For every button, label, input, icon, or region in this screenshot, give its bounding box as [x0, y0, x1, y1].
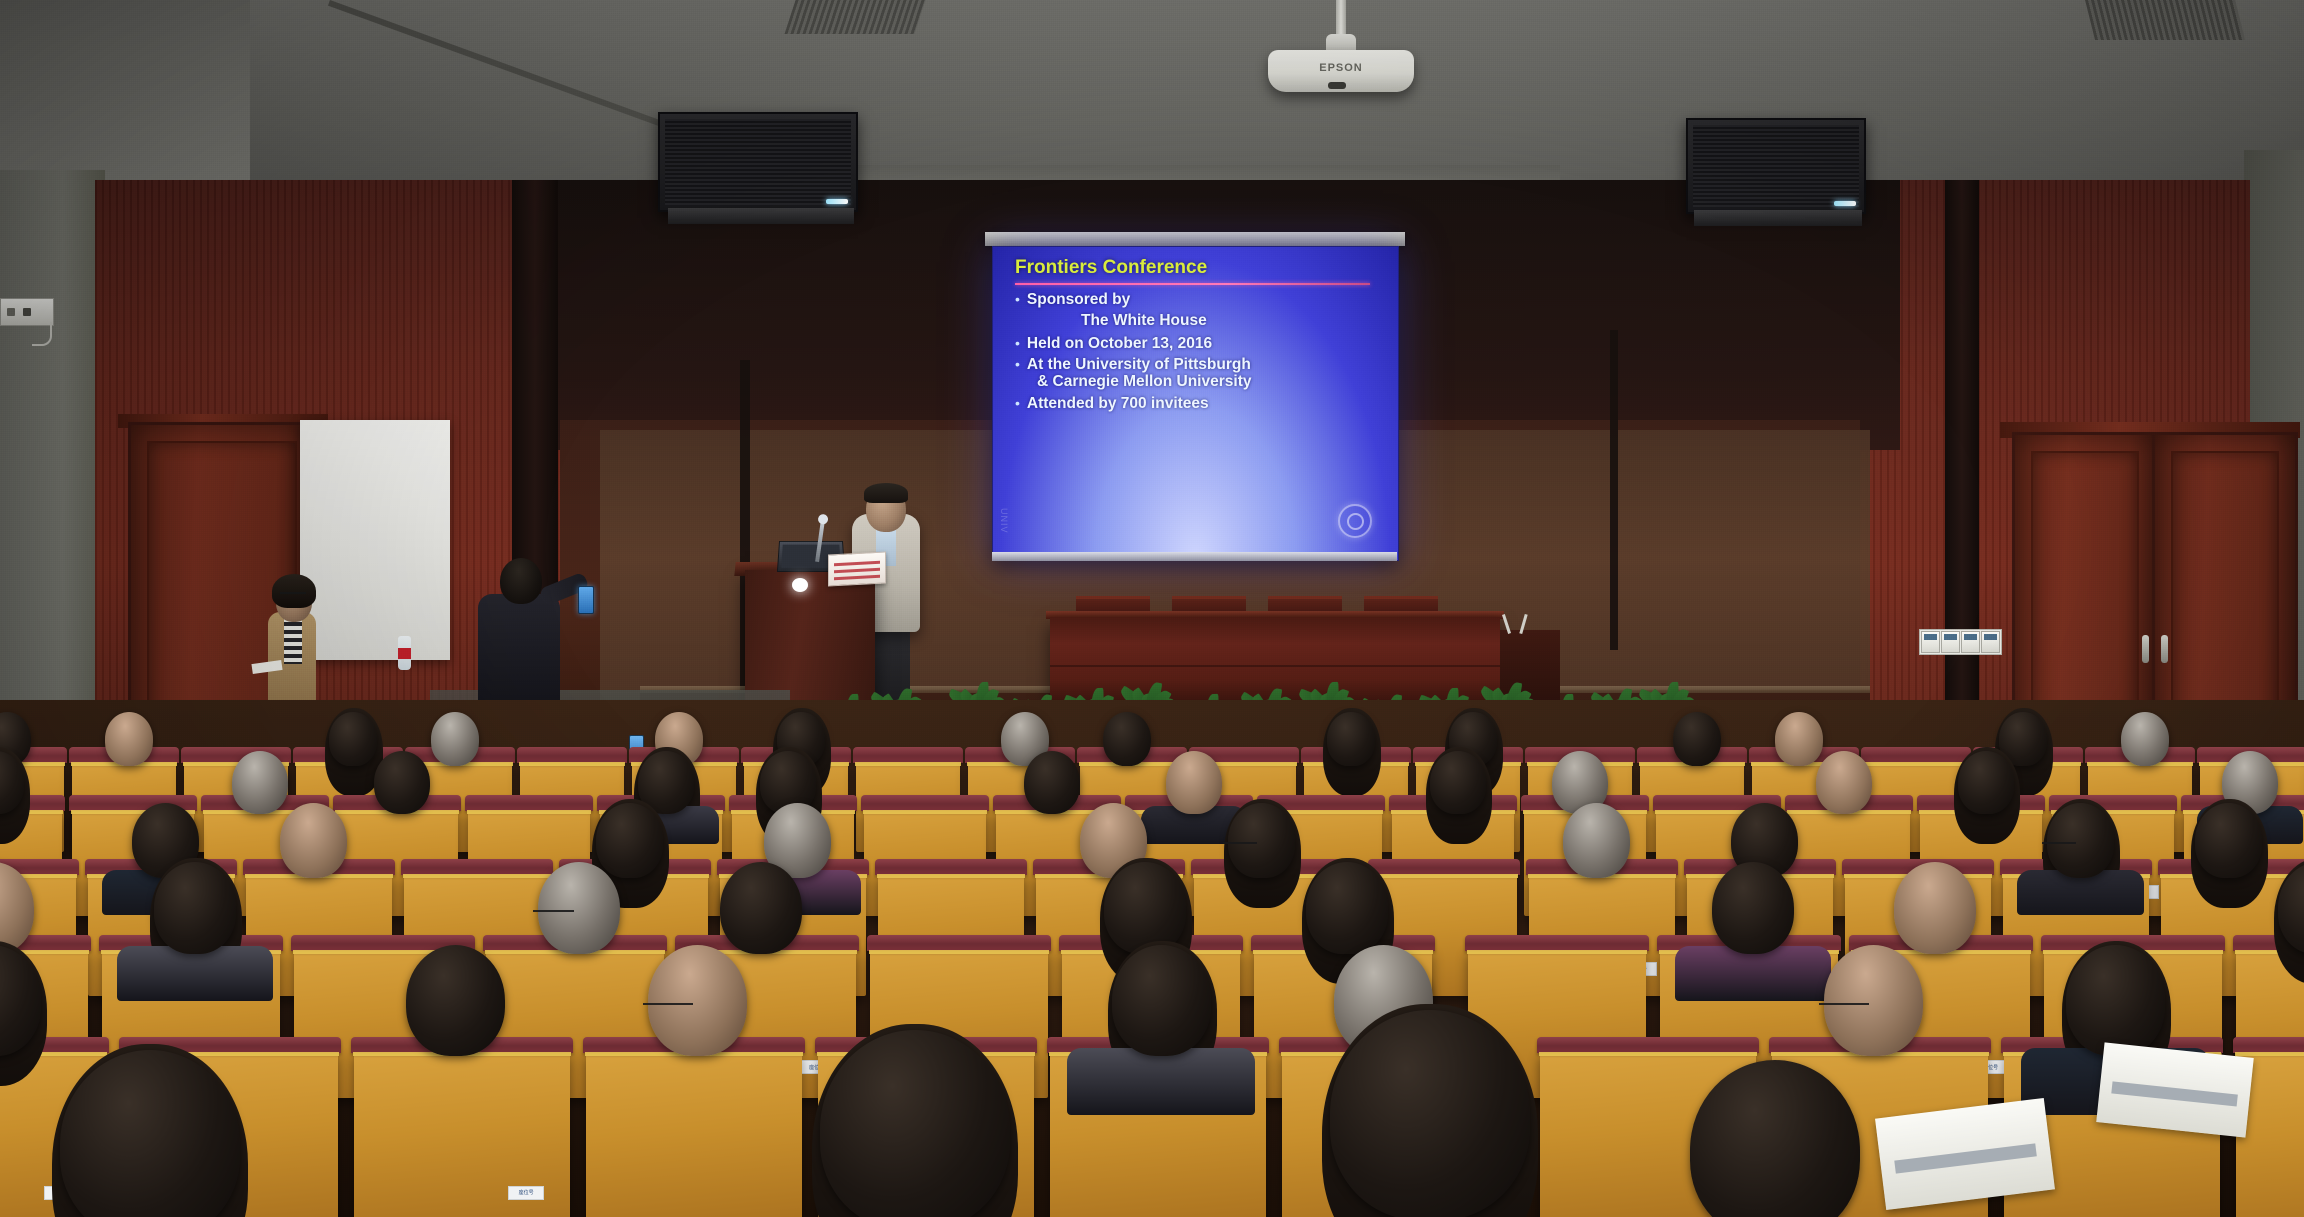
audience-member-head — [329, 712, 377, 766]
speaker-shelf-left — [668, 208, 854, 224]
audience-member-head — [2121, 712, 2169, 766]
seat-top-rail — [1368, 859, 1520, 875]
audience-member-head — [1894, 862, 1976, 954]
bullet-dot-icon: • — [1015, 357, 1020, 372]
right-door-handle-b[interactable] — [2161, 635, 2168, 663]
handout-figure — [1894, 1143, 2037, 1173]
speaker-indicator-left — [826, 199, 848, 204]
light-switch-2[interactable] — [1941, 631, 1960, 653]
projector-lens — [1328, 82, 1346, 89]
seat-top-rail — [861, 795, 989, 811]
university-seal-icon — [1338, 504, 1372, 538]
seat-number-tag: 座位号 — [508, 1186, 544, 1200]
audience-member-head — [105, 712, 153, 766]
audience-member-head — [1816, 751, 1872, 814]
slide-bullet-text: At the University of Pittsburgh — [1027, 356, 1251, 373]
audience-glasses-icon — [2042, 842, 2076, 852]
audience-member-head — [406, 945, 505, 1056]
audience-glasses-icon — [1223, 842, 1257, 852]
water-bottle — [398, 636, 411, 670]
audience-member-head — [2066, 945, 2165, 1056]
audience-member-shoulders — [1675, 946, 1831, 1001]
wall-pillar-right — [1945, 180, 1979, 740]
audience-member-head — [2047, 803, 2114, 878]
audience-member-head — [1775, 712, 1823, 766]
slide-watermark: UNIV — [999, 508, 1009, 534]
foreground-attendee-head — [1330, 1010, 1530, 1217]
white-wall-panel — [300, 420, 450, 660]
audience-member-head — [154, 862, 236, 954]
right-door-handle-a[interactable] — [2142, 635, 2149, 663]
bullet-dot-icon: • — [1015, 292, 1020, 307]
slide-bullet-text: Sponsored by — [1027, 291, 1130, 308]
ceiling-projector: EPSON — [1268, 50, 1414, 92]
assistant-glasses-icon — [280, 592, 306, 602]
audience-member-head — [1112, 945, 1211, 1056]
auditorium-seat[interactable] — [586, 1050, 802, 1217]
light-switch-3[interactable] — [1961, 631, 1980, 653]
photographer-head — [500, 558, 542, 604]
seat-top-rail — [1465, 935, 1649, 951]
audience-member-head — [431, 712, 479, 766]
seat-top-rail — [517, 747, 627, 763]
audience-member-head — [2195, 803, 2262, 878]
projection-screen-housing — [985, 232, 1405, 246]
ceiling — [0, 0, 2304, 190]
seat-top-rail — [853, 747, 963, 763]
slide-bullet-text: The White House — [1081, 312, 1207, 329]
slide-bullet-text: Attended by 700 invitees — [1027, 395, 1209, 412]
audience-glasses-icon — [1819, 1003, 1869, 1013]
seat-top-rail — [401, 859, 553, 875]
wall-speaker-left — [658, 112, 858, 212]
slide-title: Frontiers Conference — [1015, 257, 1207, 279]
audience-member-head — [1228, 803, 1295, 878]
projection-screen: Frontiers Conference • Sponsored by • Th… — [992, 246, 1399, 561]
foreground-attendee-head — [820, 1030, 1010, 1217]
seat-top-rail — [875, 859, 1027, 875]
audience-member-head — [648, 945, 747, 1056]
attendee-handout — [2096, 1042, 2254, 1137]
light-switch-panel[interactable] — [1919, 629, 2002, 655]
audience-member-shoulders — [117, 946, 273, 1001]
audience-member-head — [1327, 712, 1375, 766]
audience-member-head — [374, 751, 430, 814]
seat-top-rail — [465, 795, 593, 811]
audience-member-head — [1024, 751, 1080, 814]
audience-glasses-icon — [533, 910, 574, 920]
audience-member-head — [1104, 862, 1186, 954]
audience-member-head — [1430, 751, 1486, 814]
slide-bullet-item: • Held on October 13, 2016 — [1015, 335, 1384, 352]
wall-alarm-conduit — [32, 322, 52, 346]
light-switch-1[interactable] — [1921, 631, 1940, 653]
light-switch-4[interactable] — [1981, 631, 2000, 653]
ceiling-vent-left — [784, 0, 925, 34]
audience-member-shoulders — [1067, 1048, 1255, 1115]
assistant-scarf — [284, 618, 302, 664]
audience-member-head — [538, 862, 620, 954]
speaker-indicator-right — [1834, 201, 1856, 206]
bullet-dot-icon: • — [1015, 336, 1020, 351]
audience-member-head — [596, 803, 663, 878]
slide-bullet-item: • At the University of Pittsburgh — [1015, 356, 1384, 373]
audience-member-head — [232, 751, 288, 814]
seat-top-rail — [1537, 1037, 1759, 1053]
ceiling-seam-line — [328, 0, 668, 129]
audience-member-head — [1166, 751, 1222, 814]
seat-top-rail — [1861, 747, 1971, 763]
slide-bullet-text: & Carnegie Mellon University — [1037, 373, 1251, 390]
audience-member-head — [1824, 945, 1923, 1056]
photographer-phone[interactable] — [578, 586, 594, 614]
slide-bullet-item: • Attended by 700 invitees — [1015, 395, 1384, 412]
speaker-grille-left — [665, 119, 851, 205]
audience-member-head — [1958, 751, 2014, 814]
speaker-shelf-right — [1694, 210, 1862, 226]
audience-member-head — [280, 803, 347, 878]
wall-trim-right — [1610, 330, 1618, 650]
audience-member-head — [1673, 712, 1721, 766]
handout-figure — [2111, 1082, 2237, 1106]
auditorium-seat[interactable]: 座位号 — [354, 1050, 570, 1217]
ceiling-vent-right — [2085, 0, 2245, 40]
bullet-dot-icon: • — [1015, 396, 1020, 411]
slide-bullet-list: • Sponsored by • The White House • Held … — [1015, 291, 1384, 416]
slide-bullet-item-sub: • The White House — [1081, 312, 1384, 329]
projector-brand-label: EPSON — [1268, 62, 1414, 74]
slide-bullet-item: • Sponsored by — [1015, 291, 1384, 308]
slide-bullet-item-continuation: & Carnegie Mellon University — [1037, 373, 1384, 390]
audience-member-head — [1712, 862, 1794, 954]
speaker-grille-right — [1693, 125, 1859, 207]
seat-top-rail — [2233, 1037, 2304, 1053]
audience-member-head — [1306, 862, 1388, 954]
slide-bullet-text: Held on October 13, 2016 — [1027, 335, 1212, 352]
presenter-hair — [864, 483, 908, 503]
wall-speaker-right — [1686, 118, 1866, 214]
audience-glasses-icon — [643, 1003, 693, 1013]
audience-member-head — [720, 862, 802, 954]
seat-top-rail — [867, 935, 1051, 951]
conference-hall-photo: EPSON Frontiers Conference • Sponsored b… — [0, 0, 2304, 1217]
podium-nameplate — [828, 551, 886, 586]
audience-member-head — [1563, 803, 1630, 878]
slide-title-underline — [1015, 283, 1370, 285]
cable-light-reflection — [792, 578, 808, 592]
audience-member-head — [1103, 712, 1151, 766]
projection-screen-weight-bar — [992, 552, 1397, 561]
assistant-hair — [272, 574, 316, 608]
